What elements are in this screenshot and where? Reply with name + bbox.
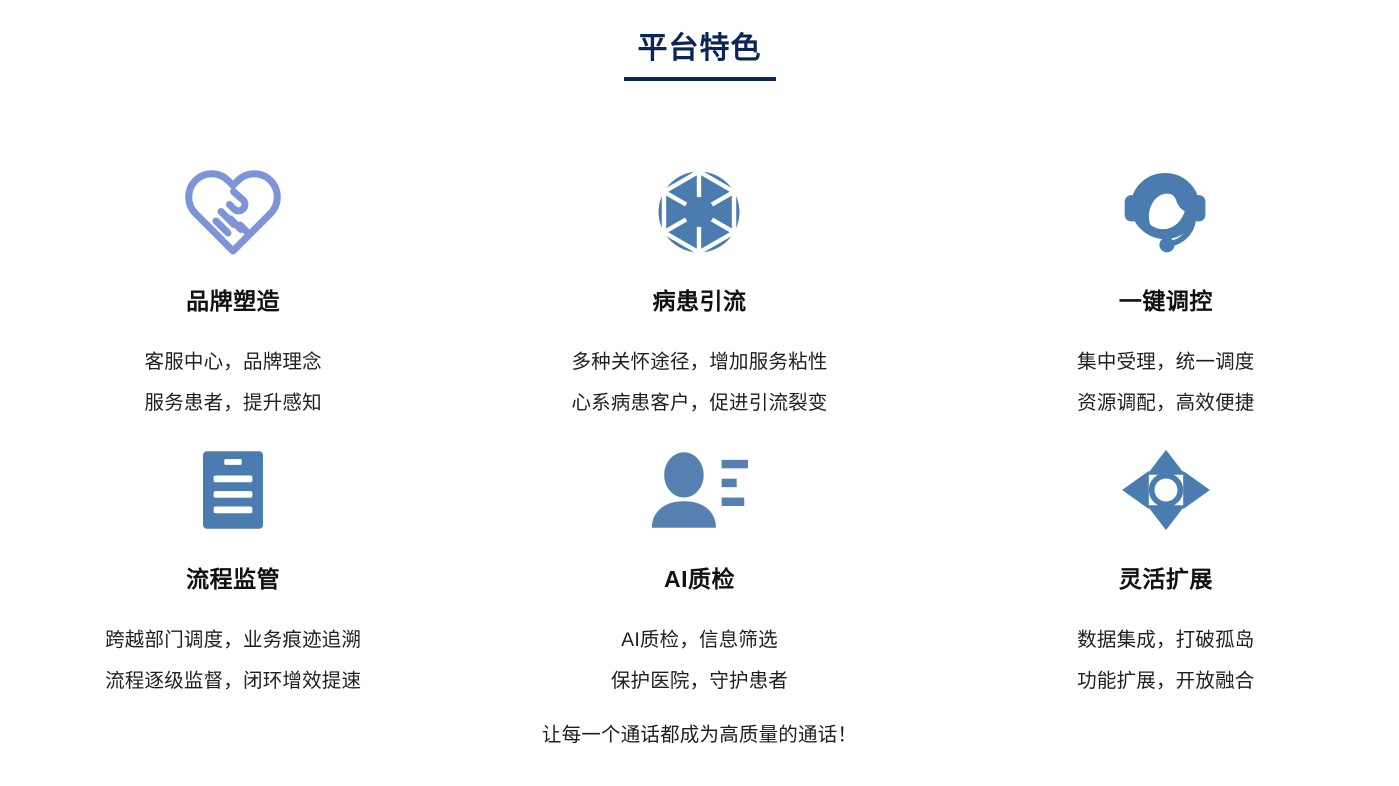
heart-handshake-icon — [185, 160, 281, 264]
feature-title: 病患引流 — [652, 286, 746, 316]
page-title-text: 平台特色 — [638, 32, 762, 65]
title-underline — [624, 77, 776, 81]
feature-description: 客服中心，品牌理念 服务患者，提升感知 — [145, 342, 322, 424]
four-way-expand-icon — [1120, 442, 1212, 538]
feature-card-flexible-expansion[interactable]: 灵活扩展 数据集成，打破孤岛 功能扩展，开放融合 — [933, 442, 1399, 702]
footer-tagline: 让每一个通话都成为高质量的通话！ — [0, 720, 1399, 750]
feature-description: 跨越部门调度，业务痕迹追溯 流程逐级监督，闭环增效提速 — [105, 620, 361, 702]
page-title: 平台特色 — [638, 28, 762, 81]
aperture-icon — [655, 160, 743, 264]
feature-card-ai-quality-inspection[interactable]: AI质检 AI质检，信息筛选 保护医院，守护患者 — [466, 442, 932, 702]
feature-desc-line: 心系病患客户，促进引流裂变 — [571, 383, 827, 424]
feature-desc-line: 资源调配，高效便捷 — [1077, 383, 1254, 424]
feature-title: AI质检 — [664, 564, 735, 594]
feature-description: 多种关怀途径，增加服务粘性 心系病患客户，促进引流裂变 — [571, 342, 827, 424]
feature-title: 灵活扩展 — [1119, 564, 1213, 594]
platform-features-page: 平台特色 品牌塑造 客服中心，品牌理念 服务患者，提升感知 — [0, 0, 1399, 786]
feature-desc-line: AI质检，信息筛选 — [611, 620, 788, 661]
feature-description: 数据集成，打破孤岛 功能扩展，开放融合 — [1077, 620, 1254, 702]
feature-desc-line: 功能扩展，开放融合 — [1077, 661, 1254, 702]
feature-card-process-supervision[interactable]: 流程监管 跨越部门调度，业务痕迹追溯 流程逐级监督，闭环增效提速 — [0, 442, 466, 702]
section-header: 平台特色 — [0, 28, 1399, 81]
headset-support-icon — [1119, 160, 1213, 264]
feature-desc-line: 跨越部门调度，业务痕迹追溯 — [105, 620, 361, 661]
feature-title: 流程监管 — [186, 564, 280, 594]
clipboard-document-icon — [203, 442, 263, 538]
feature-description: AI质检，信息筛选 保护医院，守护患者 — [611, 620, 788, 702]
feature-card-patient-acquisition[interactable]: 病患引流 多种关怀途径，增加服务粘性 心系病患客户，促进引流裂变 — [466, 160, 932, 442]
feature-desc-line: 服务患者，提升感知 — [145, 383, 322, 424]
feature-title: 品牌塑造 — [186, 286, 280, 316]
feature-desc-line: 流程逐级监督，闭环增效提速 — [105, 661, 361, 702]
feature-grid: 品牌塑造 客服中心，品牌理念 服务患者，提升感知 — [0, 160, 1399, 702]
feature-desc-line: 多种关怀途径，增加服务粘性 — [571, 342, 827, 383]
feature-desc-line: 保护医院，守护患者 — [611, 661, 788, 702]
feature-desc-line: 数据集成，打破孤岛 — [1077, 620, 1254, 661]
feature-description: 集中受理，统一调度 资源调配，高效便捷 — [1077, 342, 1254, 424]
feature-card-brand-building[interactable]: 品牌塑造 客服中心，品牌理念 服务患者，提升感知 — [0, 160, 466, 442]
feature-desc-line: 集中受理，统一调度 — [1077, 342, 1254, 383]
feature-desc-line: 客服中心，品牌理念 — [145, 342, 322, 383]
feature-card-one-click-control[interactable]: 一键调控 集中受理，统一调度 资源调配，高效便捷 — [933, 160, 1399, 442]
user-profile-lines-icon — [650, 442, 748, 538]
feature-title: 一键调控 — [1119, 286, 1213, 316]
